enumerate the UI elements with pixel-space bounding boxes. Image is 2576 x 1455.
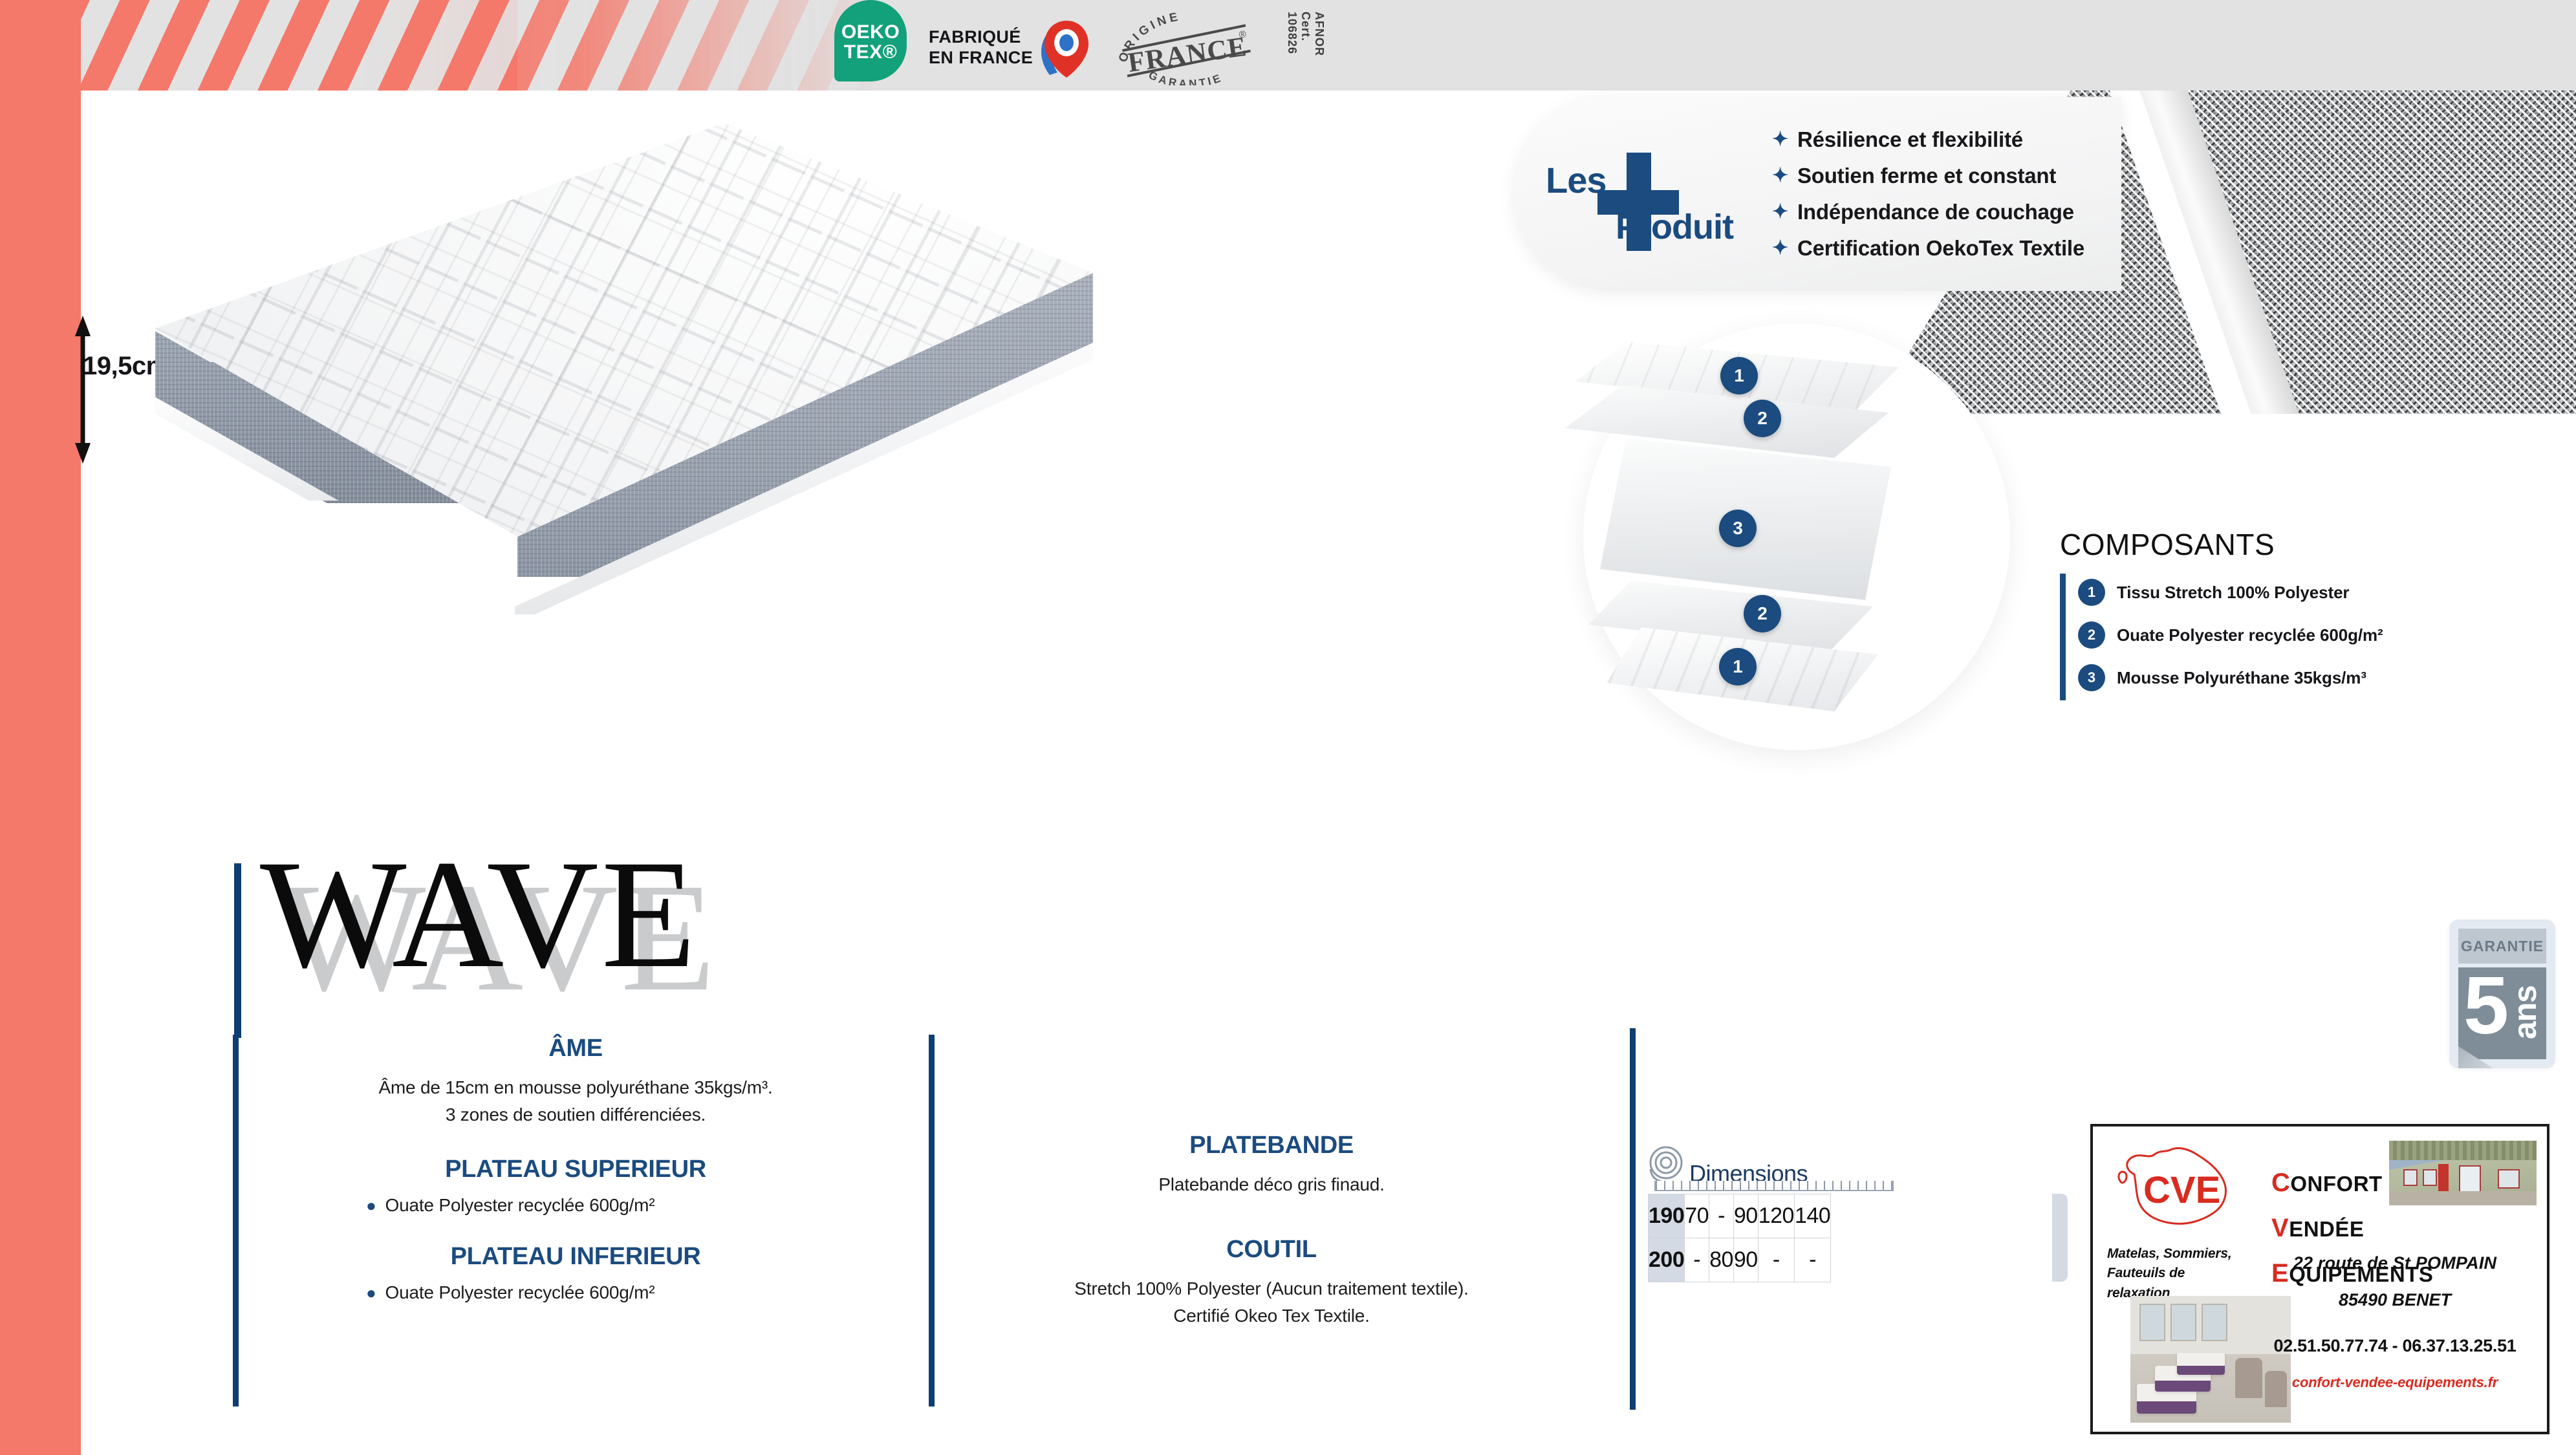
exploded-layers-diagram: 1 2 3 2 1 — [1552, 323, 2063, 776]
spec-heading: ÂME — [272, 1035, 880, 1062]
layer-badge-1: 1 — [1720, 357, 1758, 394]
oeko-line2: TEX® — [844, 43, 897, 63]
company-address-line1: 22 route de St POMPAIN — [2256, 1253, 2534, 1273]
benefit-item: ✦ Indépendance de couchage — [1772, 194, 2084, 230]
company-phones: 02.51.50.77.74 - 06.37.13.25.51 — [2256, 1336, 2534, 1356]
benefit-label: Indépendance de couchage — [1797, 200, 2074, 224]
composants-badge: 3 — [2078, 664, 2105, 691]
warranty-title-band: GARANTIE — [2458, 929, 2546, 964]
showroom-window — [2202, 1304, 2227, 1341]
sparkle-icon: ✦ — [1772, 130, 1788, 149]
certification-logos: OEKO TEX® FABRIQUÉ EN FRANCE — [834, 0, 1326, 91]
composants-list: 1 Tissu Stretch 100% Polyester 2 Ouate P… — [2060, 571, 2538, 699]
spec-heading: COUTIL — [968, 1236, 1575, 1264]
composants-row: 2 Ouate Polyester recyclée 600g/m² — [2078, 614, 2538, 656]
cell-190-3: 90 — [1733, 1194, 1758, 1238]
warranty-title: GARANTIE — [2461, 938, 2544, 955]
oeko-line1: OEKO — [841, 23, 900, 43]
composants-label: Tissu Stretch 100% Polyester — [2117, 583, 2349, 603]
cell-190-5: 140 — [1794, 1194, 1830, 1238]
cve-logo-letters: CVE — [2143, 1169, 2220, 1211]
showroom-window — [2170, 1304, 2196, 1341]
measuring-tape-icon — [1648, 1143, 1687, 1185]
spec-heading: PLATEAU SUPERIEUR — [272, 1156, 880, 1183]
origine-registered-mark: ® — [1239, 28, 1247, 40]
dimensions-accent-rule — [1630, 1028, 1636, 1410]
spec-column-cover: PLATEBANDE Platebande déco gris finaud. … — [929, 1035, 1575, 1330]
layer-badge-3: 3 — [1719, 510, 1757, 547]
benefit-label: Certification OekoTex Textile — [1797, 236, 2084, 261]
composants-accent-bar — [2060, 574, 2066, 700]
oeko-tex-badge: OEKO TEX® — [834, 0, 907, 81]
benefit-label: Soutien ferme et constant — [1797, 164, 2056, 188]
height-dimension-arrow — [0, 0, 168, 1455]
composants-legend: COMPOSANTS 1 Tissu Stretch 100% Polyeste… — [2060, 527, 2538, 699]
benefit-label: Résilience et flexibilité — [1797, 127, 2023, 152]
layer-badge-4: 2 — [1744, 595, 1781, 632]
showroom-window — [2139, 1304, 2165, 1341]
company-address-line2: 85490 BENET — [2256, 1290, 2534, 1310]
company-tagline: Matelas, Sommiers, Fauteuils de relaxati… — [2107, 1244, 2249, 1303]
spec-paragraph: Stretch 100% Polyester (Aucun traitement… — [968, 1275, 1575, 1302]
showroom-bed — [2177, 1353, 2225, 1375]
spec-paragraph: Platebande déco gris finaud. — [968, 1171, 1575, 1198]
benefit-item: ✦ Résilience et flexibilité — [1772, 122, 2084, 158]
benefits-list: ✦ Résilience et flexibilité ✦ Soutien fe… — [1772, 122, 2084, 266]
spec-paragraph: Certifié Okeo Tex Textile. — [968, 1302, 1575, 1330]
made-in-line2: EN FRANCE — [929, 48, 1033, 69]
spec-paragraph: 3 zones de soutien différenciées. — [272, 1101, 880, 1128]
row-length-190: 190 — [1649, 1194, 1685, 1238]
product-sheet-page: Collection Relaxation OEKO TEX® FABRIQUÉ… — [0, 0, 2576, 1455]
product-benefits-box: Les Produit ✦ Résilience et flexibilité … — [1513, 97, 2121, 291]
dimensions-header: Dimensions — [1648, 1143, 1808, 1185]
spec-column-core: ÂME Âme de 15cm en mousse polyuréthane 3… — [233, 1035, 880, 1303]
les-label: Les — [1546, 159, 1607, 201]
cell-190-1: 70 — [1685, 1194, 1709, 1238]
storefront-ground — [2389, 1191, 2537, 1205]
cell-200-1: - — [1685, 1238, 1709, 1282]
storefront-window — [2498, 1169, 2520, 1189]
sparkle-icon: ✦ — [1772, 202, 1788, 222]
cell-200-2: 80 — [1709, 1238, 1734, 1282]
composants-label: Ouate Polyester recyclée 600g/m² — [2117, 625, 2383, 645]
composants-label: Mousse Polyuréthane 35kgs/m³ — [2117, 668, 2366, 688]
spec-column-rule — [233, 1035, 239, 1406]
mattress-product-photo — [155, 123, 1164, 847]
spec-bullet-label: Ouate Polyester recyclée 600g/m² — [385, 1282, 655, 1303]
made-in-france-group: FABRIQUÉ EN FRANCE — [929, 17, 1092, 79]
made-in-line1: FABRIQUÉ — [929, 27, 1033, 48]
layer-badge-5: 1 — [1719, 648, 1757, 685]
dimensions-table: 190 70 - 90 120 140 200 - 80 90 - - — [1648, 1194, 1831, 1282]
storefront-window — [2403, 1169, 2418, 1186]
afnor-cert-text: AFNOR Cert. 106826 — [1285, 12, 1326, 87]
made-in-france-text: FABRIQUÉ EN FRANCE — [929, 27, 1033, 69]
storefront-window — [2423, 1169, 2437, 1186]
storefront-roof — [2389, 1141, 2537, 1160]
produit-label: Produit — [1616, 207, 1733, 247]
bullet-icon: ● — [366, 1284, 376, 1301]
sparkle-icon: ✦ — [1772, 166, 1788, 186]
company-card: CVE Matelas, Sommiers, Fauteuils de rela… — [2090, 1124, 2549, 1434]
composants-row: 1 Tissu Stretch 100% Polyester — [2078, 571, 2538, 614]
cell-200-3: 90 — [1733, 1238, 1758, 1282]
cell-190-4: 120 — [1758, 1194, 1794, 1238]
spec-heading: PLATEAU INFERIEUR — [272, 1243, 880, 1271]
composants-badge: 1 — [2078, 579, 2105, 606]
spec-bullet: ● Ouate Polyester recyclée 600g/m² — [272, 1282, 880, 1303]
company-contact: 22 route de St POMPAIN 85490 BENET 02.51… — [2256, 1253, 2534, 1391]
row-length-200: 200 — [1649, 1238, 1685, 1282]
cell-200-5: - — [1794, 1238, 1830, 1282]
bullet-icon: ● — [366, 1197, 376, 1214]
cve-vendee-map-logo: CVE — [2115, 1143, 2238, 1240]
warranty-unit: ans — [2506, 986, 2544, 1039]
cell-200-4: - — [1758, 1238, 1794, 1282]
warranty-body: 5 ans — [2458, 967, 2546, 1059]
composants-row: 3 Mousse Polyuréthane 35kgs/m³ — [2078, 656, 2538, 699]
composants-title: COMPOSANTS — [2060, 527, 2538, 562]
company-website: confort-vendee-equipements.fr — [2256, 1374, 2534, 1391]
origine-stamp-svg: ORIGINE GARANTIE FRANCE ® — [1114, 13, 1263, 85]
title-accent-bar — [234, 863, 241, 1038]
company-initial-v: V — [2271, 1214, 2289, 1242]
cell-190-2: - — [1709, 1194, 1734, 1238]
table-row: 200 - 80 90 - - — [1649, 1238, 1831, 1282]
company-word-vendee: VENDÉE — [2271, 1205, 2433, 1251]
origine-france-garantie-stamp: ORIGINE GARANTIE FRANCE ® — [1114, 13, 1263, 85]
sparkle-icon: ✦ — [1772, 239, 1788, 258]
spec-paragraph: Âme de 15cm en mousse polyuréthane 35kgs… — [272, 1074, 880, 1101]
benefit-item: ✦ Certification OekoTex Textile — [1772, 230, 2084, 266]
composants-badge: 2 — [2078, 621, 2105, 649]
tape-ruler-strip — [1654, 1181, 1894, 1191]
spec-heading: PLATEBANDE — [968, 1132, 1575, 1159]
layer-badge-2: 2 — [1744, 400, 1781, 437]
benefit-item: ✦ Soutien ferme et constant — [1772, 158, 2084, 194]
product-name: WAVE — [260, 836, 698, 991]
warranty-badge: GARANTIE 5 ans — [2449, 920, 2555, 1068]
warranty-years: 5 — [2463, 967, 2509, 1046]
les-plus-produit-logo: Les Produit — [1546, 147, 1727, 251]
storefront-photo — [2389, 1141, 2537, 1205]
dimensions-table-tab — [2052, 1194, 2068, 1282]
storefront-banner — [2438, 1164, 2449, 1192]
spec-bullet-label: Ouate Polyester recyclée 600g/m² — [385, 1195, 655, 1216]
company-rest-confort: ONFORT — [2290, 1172, 2382, 1196]
spec-bullet: ● Ouate Polyester recyclée 600g/m² — [272, 1195, 880, 1216]
location-pin-icon — [1037, 17, 1092, 79]
company-rest-vendee: ENDÉE — [2289, 1217, 2364, 1241]
company-initial-c: C — [2271, 1169, 2290, 1197]
table-row: 190 70 - 90 120 140 — [1649, 1194, 1831, 1238]
spec-column-rule — [929, 1035, 935, 1406]
